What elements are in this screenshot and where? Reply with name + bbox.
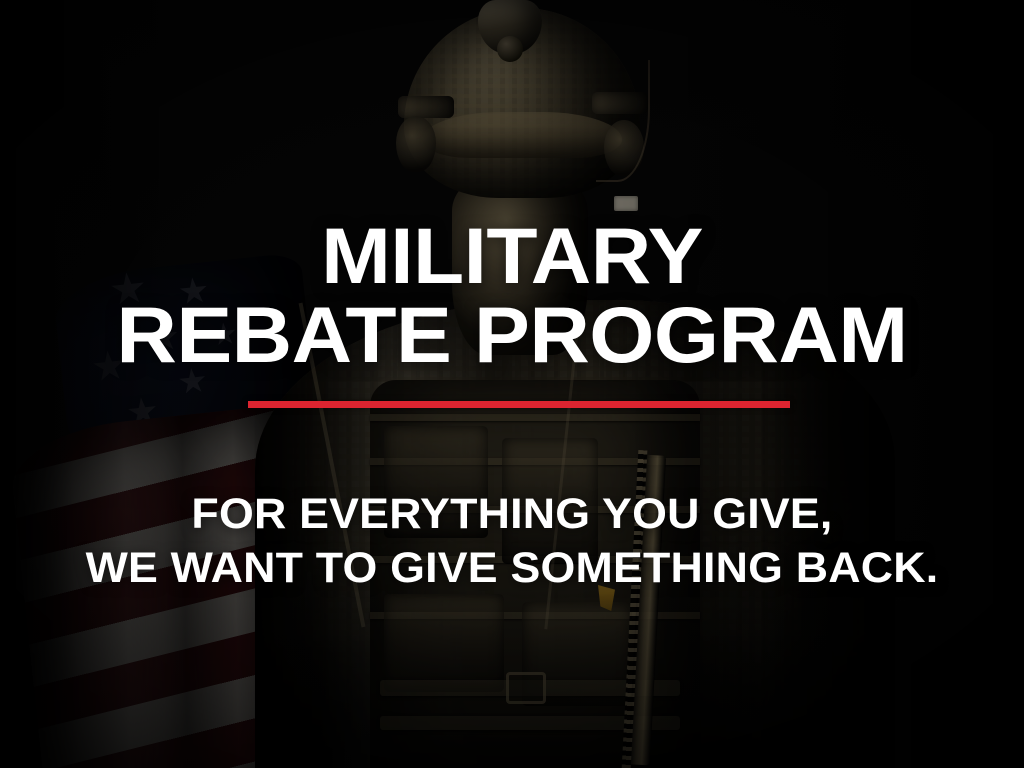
helmet-velcro-band (422, 112, 622, 158)
vest-pouch (384, 426, 488, 538)
soldier-neck (452, 175, 588, 355)
helmet-wire (596, 60, 650, 182)
background-photo (0, 0, 1024, 768)
vest-buckle (506, 672, 546, 704)
molle-webbing (370, 414, 700, 421)
helmet-patch (614, 196, 638, 211)
poster-canvas: MILITARY REBATE PROGRAM FOR EVERYTHING Y… (0, 0, 1024, 768)
vest-pouch (502, 438, 598, 564)
helmet-ear-cup (396, 116, 436, 172)
vest-pouch (384, 594, 504, 692)
nvg-knob-icon (497, 36, 523, 62)
helmet-side-rail (398, 96, 454, 118)
